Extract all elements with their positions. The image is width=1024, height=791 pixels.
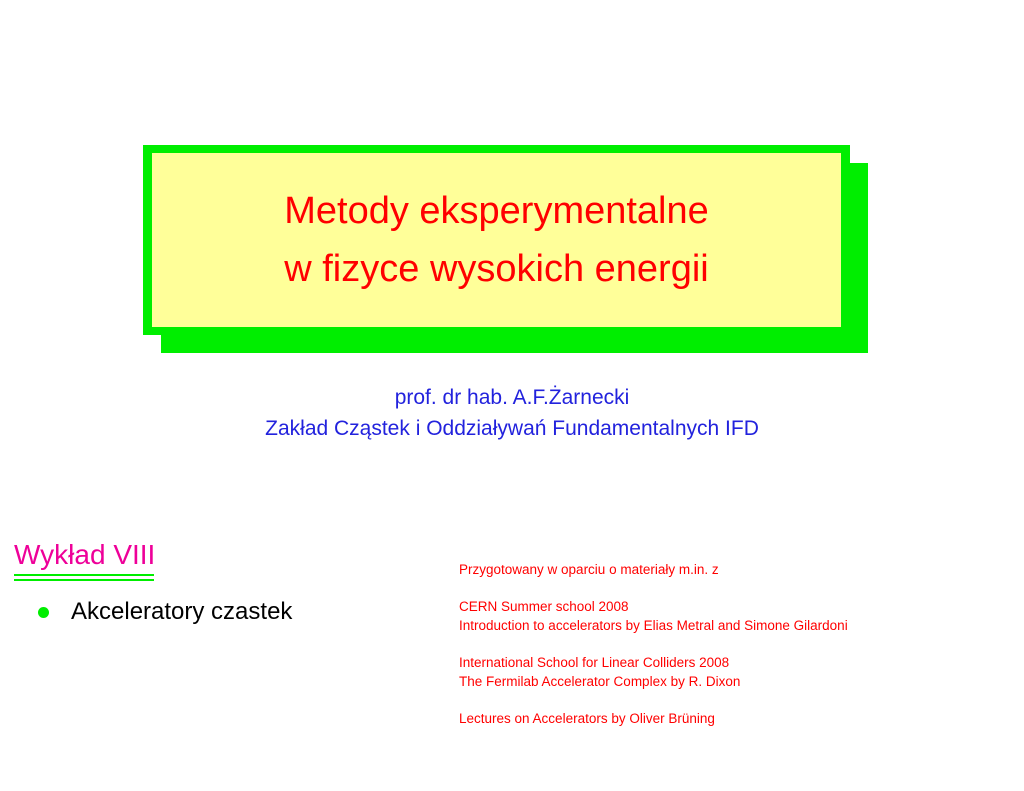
topic-list: Akceleratory czastek [14, 597, 434, 627]
credits-group-cern: CERN Summer school 2008 Introduction to … [459, 597, 979, 635]
lecture-heading: Wykład VIII [14, 538, 434, 572]
credits-line: CERN Summer school 2008 [459, 597, 979, 616]
credits-line: Przygotowany w oparciu o materiały m.in.… [459, 560, 979, 579]
list-item: Akceleratory czastek [38, 597, 434, 627]
title-box-fill: Metody eksperymentalne w fizyce wysokich… [152, 153, 841, 327]
slide-title-line-1: Metody eksperymentalne [284, 182, 709, 240]
lecture-heading-double-rule [14, 574, 154, 581]
slide-title-line-2: w fizyce wysokich energii [284, 240, 708, 298]
subtitle: prof. dr hab. A.F.Żarnecki Zakład Cząste… [0, 382, 1024, 444]
credits-line: International School for Linear Collider… [459, 653, 979, 672]
author-name: prof. dr hab. A.F.Żarnecki [0, 382, 1024, 413]
credits-line: The Fermilab Accelerator Complex by R. D… [459, 672, 979, 691]
credits-section: Przygotowany w oparciu o materiały m.in.… [459, 560, 979, 728]
green-dot-bullet-icon [38, 607, 49, 618]
credits-line: Introduction to accelerators by Elias Me… [459, 616, 979, 635]
title-box: Metody eksperymentalne w fizyce wysokich… [143, 145, 868, 353]
slide-page: { "slide": { "title_box": { "lines": [ "… [0, 0, 1024, 791]
credits-group-intro: Przygotowany w oparciu o materiały m.in.… [459, 560, 979, 579]
credits-line: Lectures on Accelerators by Oliver Brüni… [459, 709, 979, 728]
credits-group-linear-colliders: International School for Linear Collider… [459, 653, 979, 691]
lecture-section: Wykład VIII Akceleratory czastek [14, 538, 434, 643]
author-affiliation: Zakład Cząstek i Oddziaływań Fundamental… [0, 413, 1024, 444]
topic-label: Akceleratory czastek [71, 597, 292, 627]
credits-group-bruning: Lectures on Accelerators by Oliver Brüni… [459, 709, 979, 728]
title-box-frame: Metody eksperymentalne w fizyce wysokich… [143, 145, 850, 335]
